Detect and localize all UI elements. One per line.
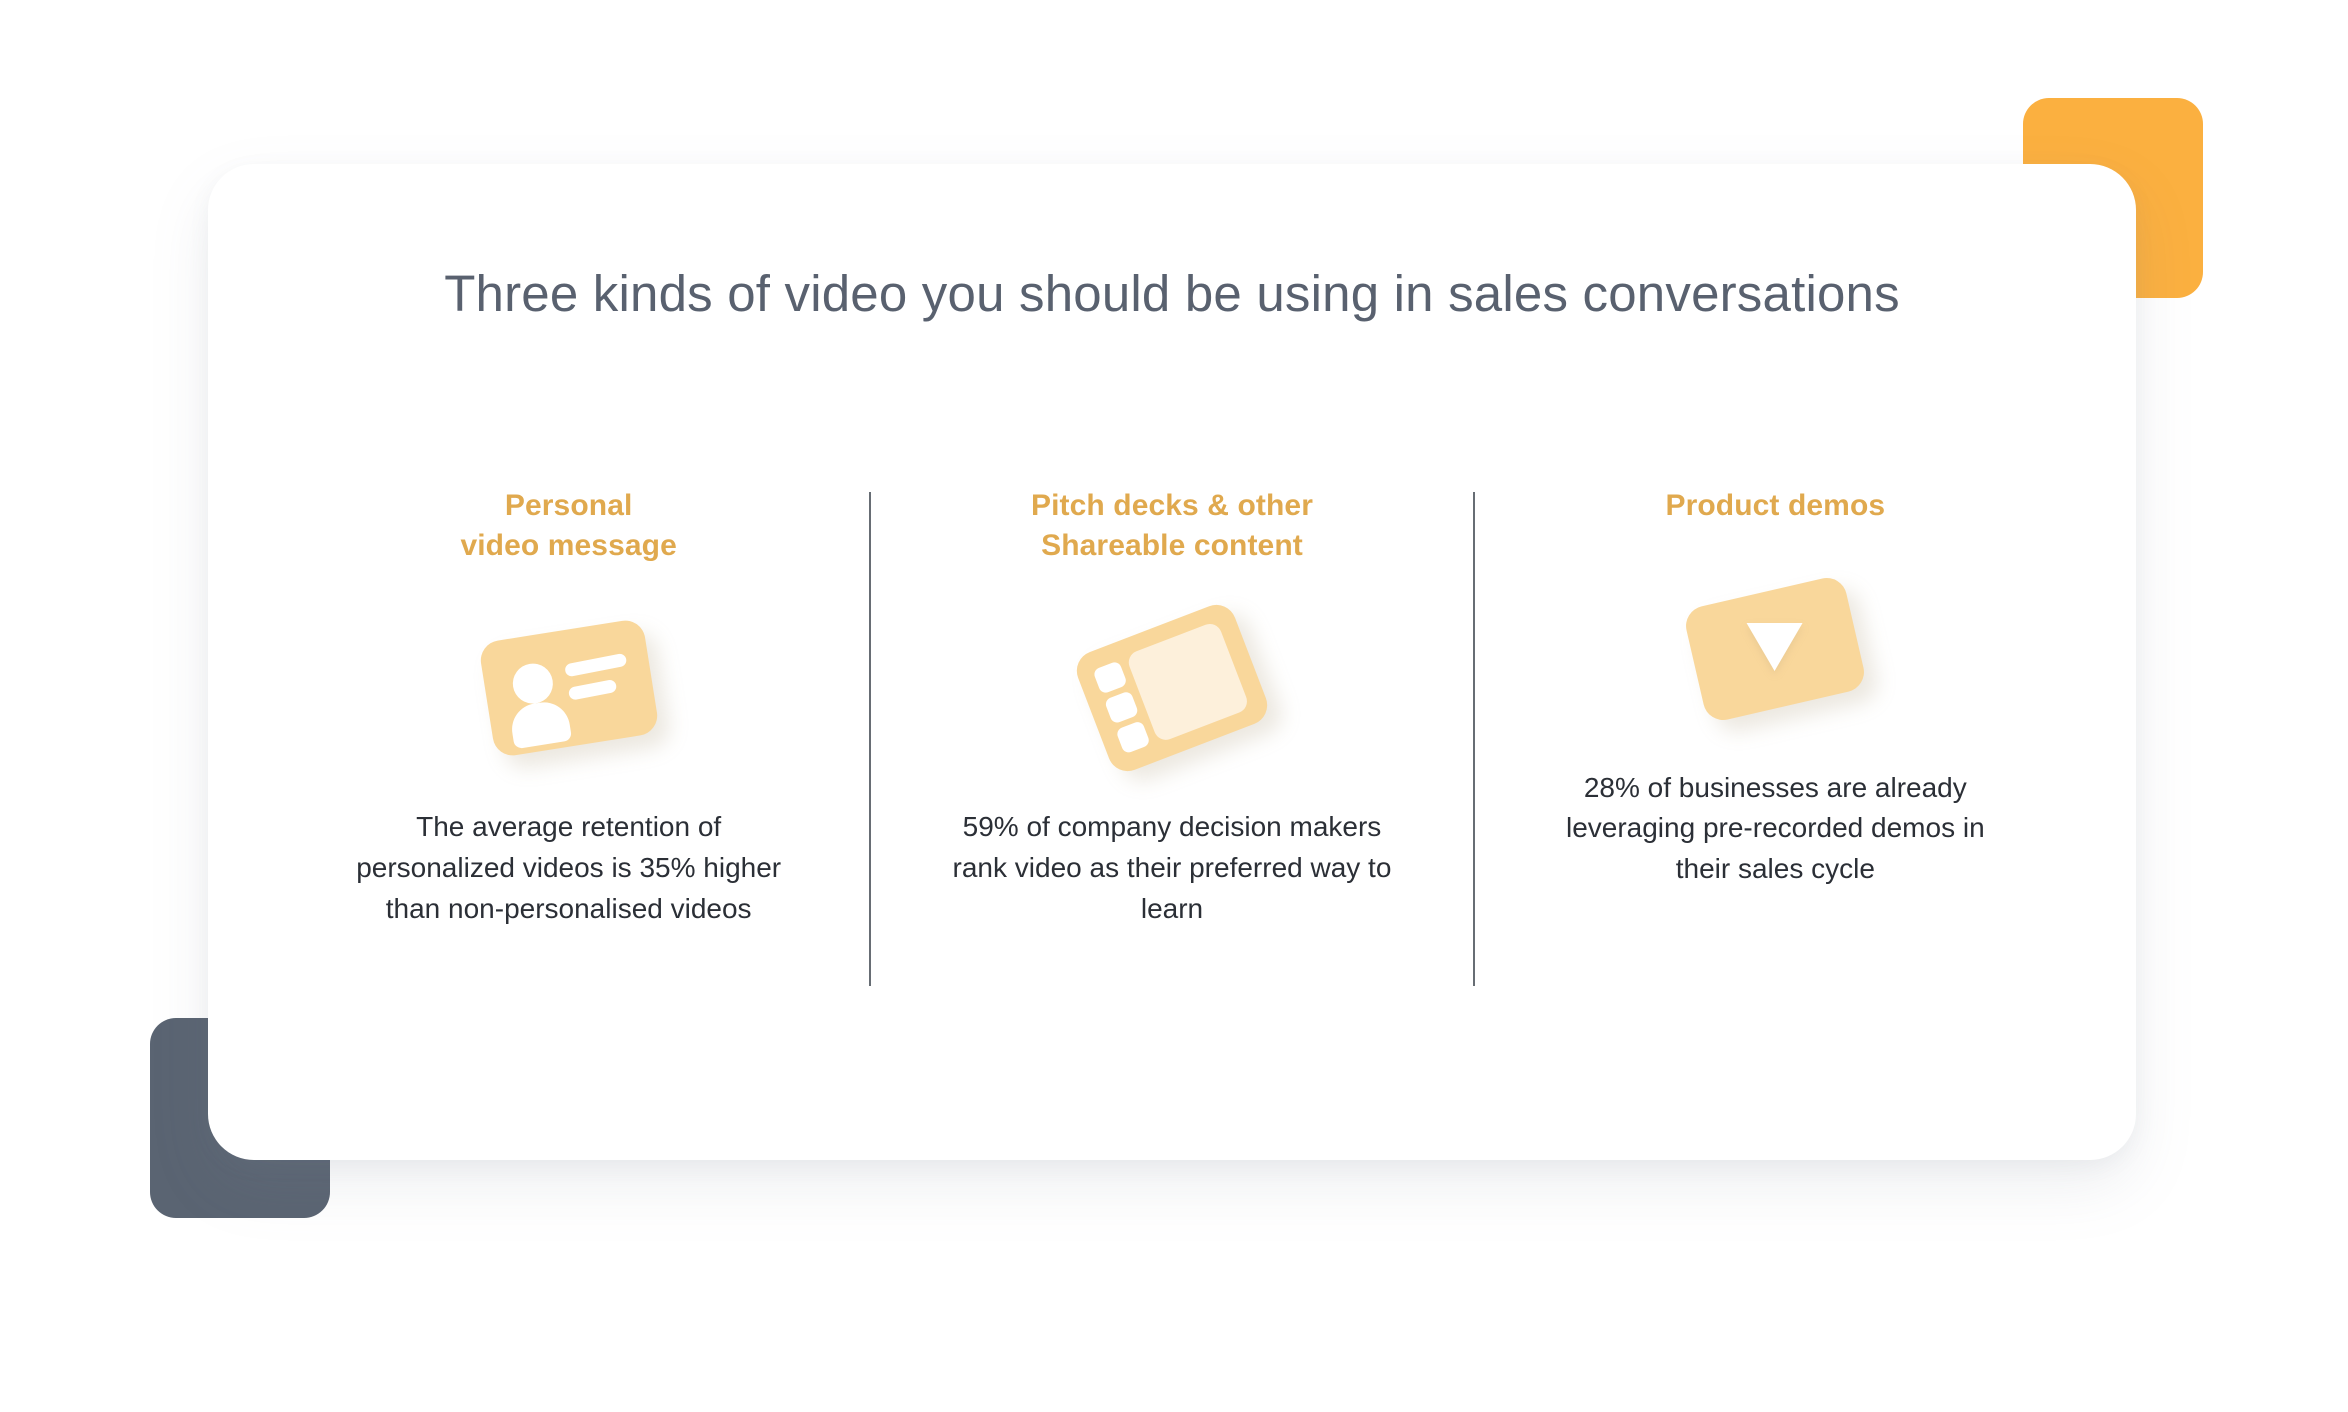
avatar-body-shape <box>508 699 572 750</box>
slide-deck-icon <box>1071 599 1273 777</box>
text-line-short-shape <box>567 679 617 701</box>
column-product-demos: Product demos 28% of businesses are alre… <box>1475 486 2076 890</box>
text-line-long-shape <box>564 653 627 678</box>
play-button-icon <box>1682 574 1868 724</box>
slide-main-shape <box>1125 621 1250 744</box>
column-body-text: 28% of businesses are already leveraging… <box>1540 768 2010 891</box>
avatar-head-shape <box>510 661 556 707</box>
columns-container: Personal video message The average reten… <box>268 486 2076 986</box>
icon-container <box>486 583 652 793</box>
slide-thumbnail-shape <box>1104 690 1139 724</box>
slide-thumbnail-shape <box>1115 720 1150 754</box>
column-heading: Personal video message <box>460 486 676 565</box>
content-card: Three kinds of video you should be using… <box>208 164 2136 1160</box>
icon-container <box>1088 583 1256 793</box>
play-triangle-shape <box>1747 623 1803 671</box>
column-body-text: 59% of company decision makers rank vide… <box>937 807 1407 930</box>
icon-container <box>1693 544 1857 754</box>
contact-card-icon <box>478 618 660 759</box>
column-body-text: The average retention of personalized vi… <box>334 807 804 930</box>
column-heading: Product demos <box>1665 486 1885 526</box>
column-pitch-decks: Pitch decks & other Shareable content 59… <box>871 486 1472 930</box>
slide-thumbnail-shape <box>1092 661 1127 695</box>
page-title: Three kinds of video you should be using… <box>208 264 2136 323</box>
column-heading: Pitch decks & other Shareable content <box>1031 486 1313 565</box>
column-personal-video-message: Personal video message The average reten… <box>268 486 869 930</box>
